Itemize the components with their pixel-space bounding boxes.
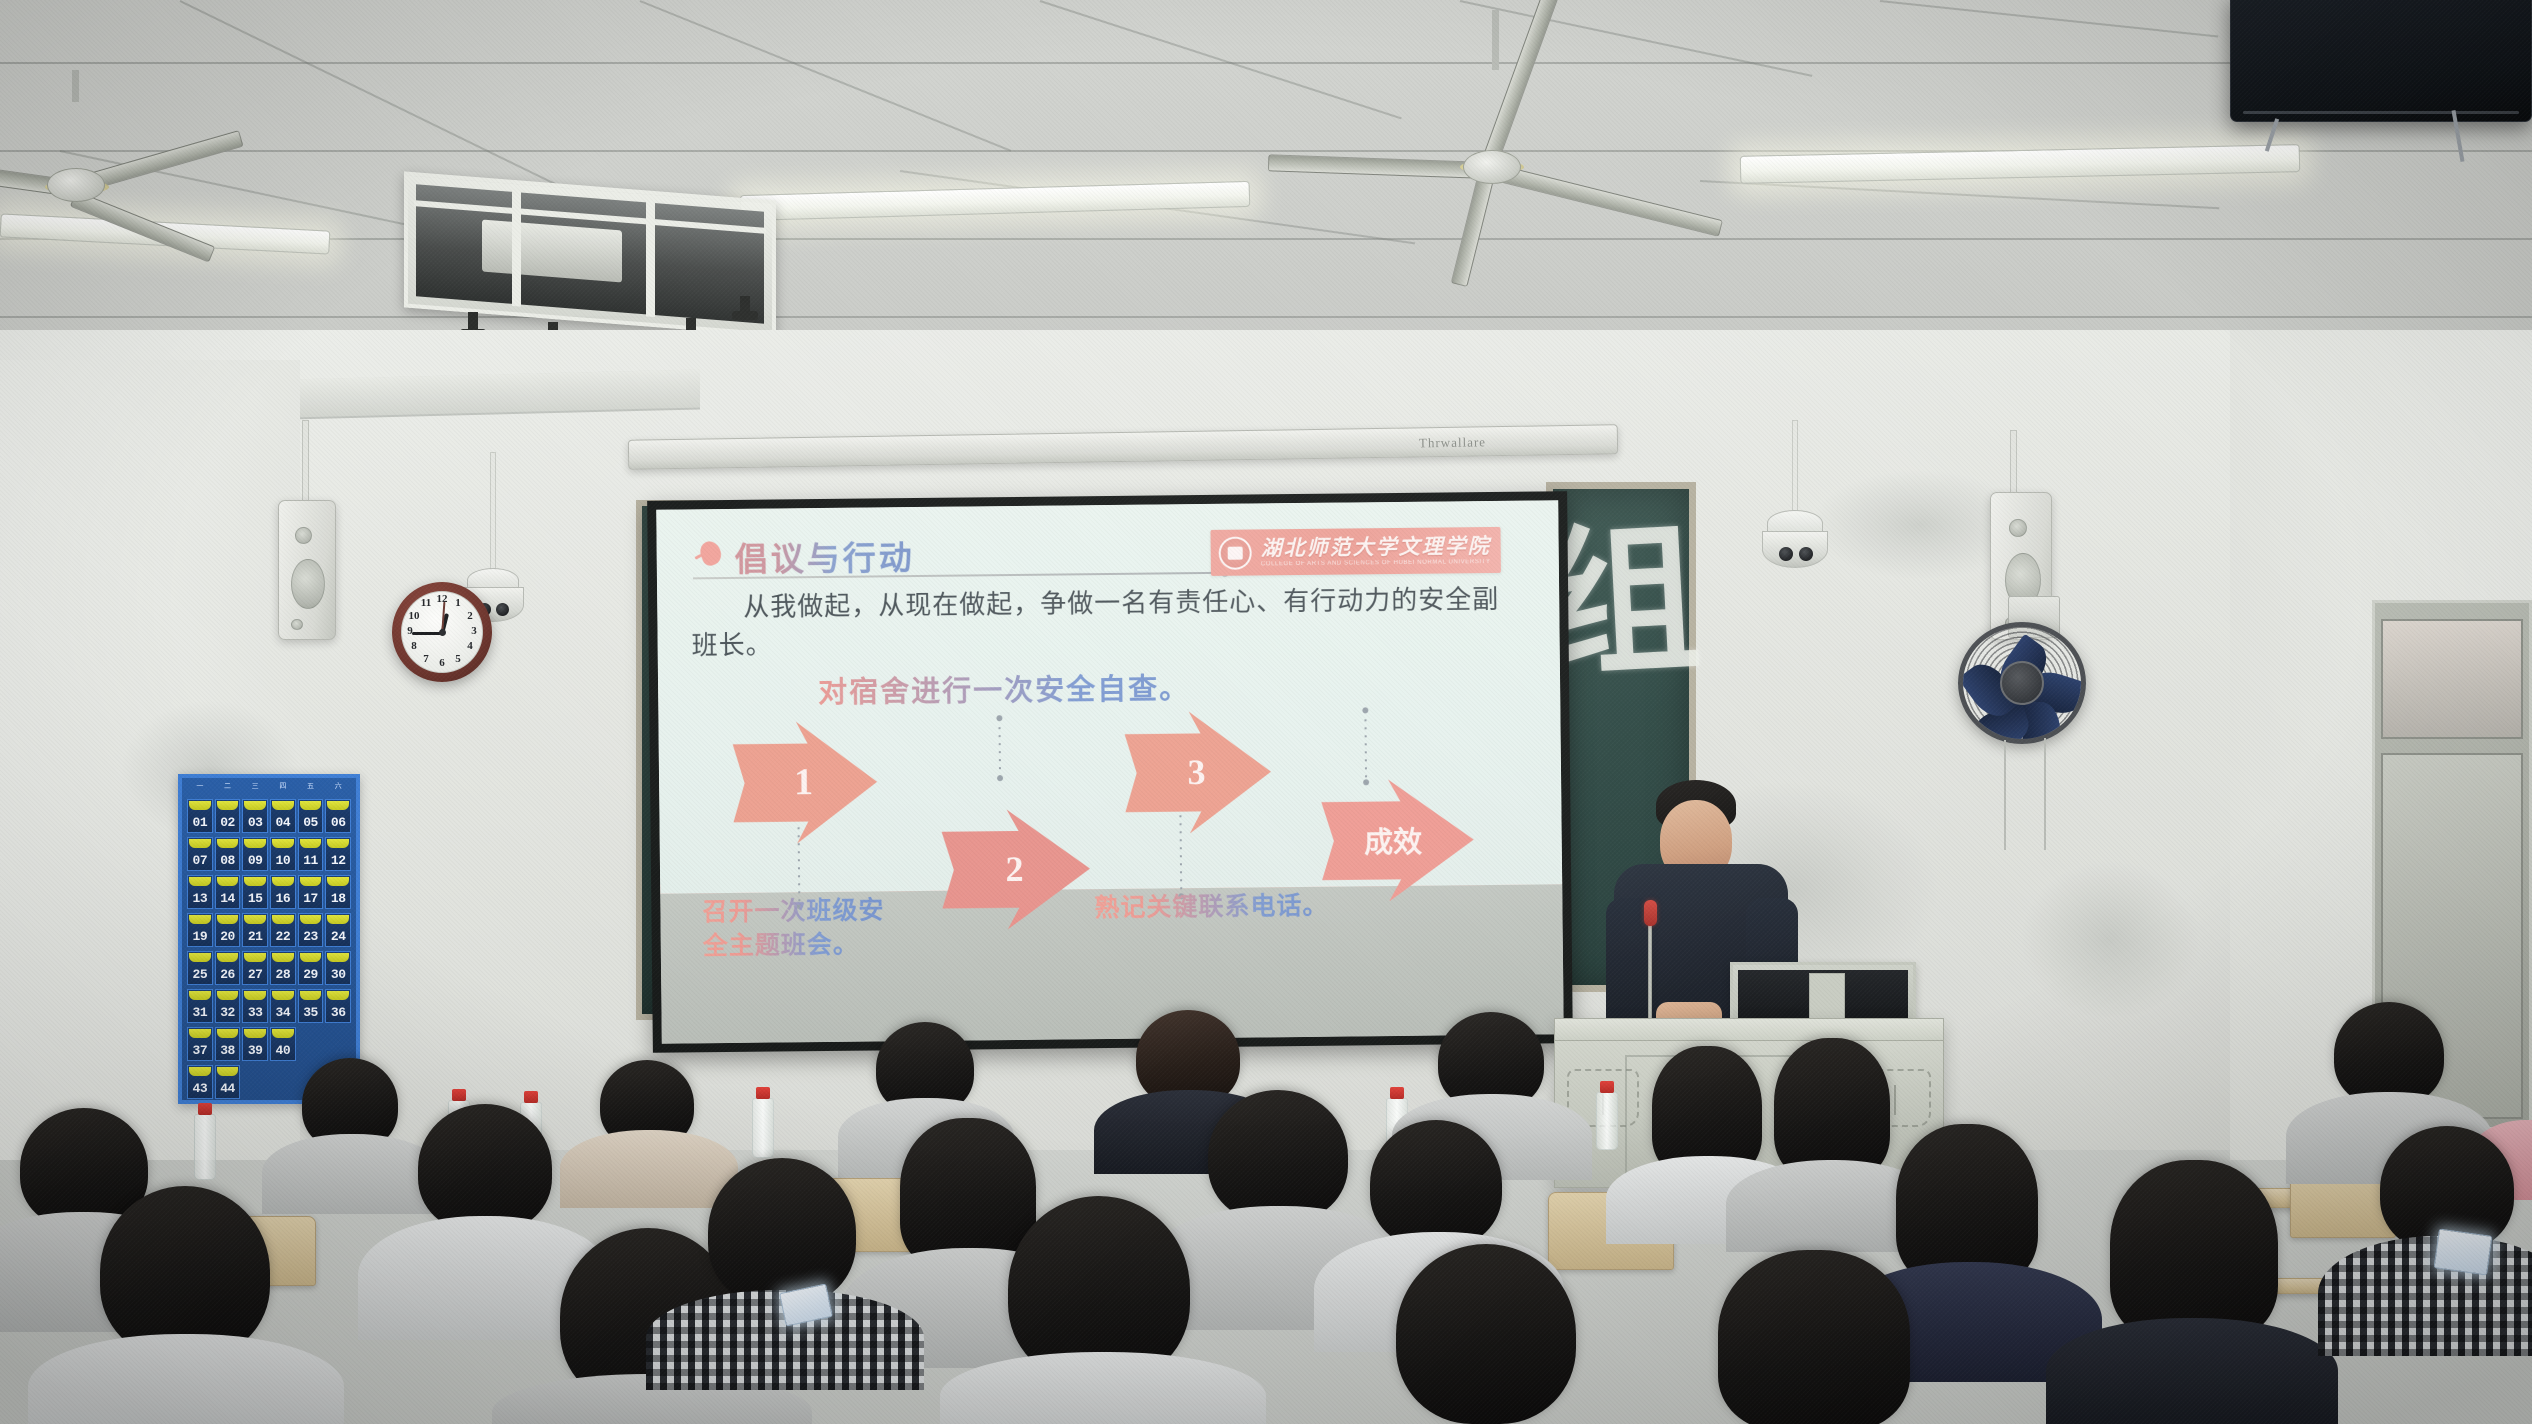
slide-body-text: 从我做起，从现在做起，争做一名有责任心、有行动力的安全副班长。 — [691, 581, 1526, 665]
phone-pocket[interactable]: 17 — [298, 875, 324, 909]
pocket-number: 13 — [193, 892, 208, 908]
process-arrow-3: 3 — [1124, 711, 1271, 835]
pocket-number: 15 — [248, 892, 263, 908]
slide: 倡议与行动 湖北师范大学文理学院 COLLEGE OF ARTS AND SCI… — [656, 500, 1562, 894]
clock-face: 12 1 2 3 4 5 6 7 8 9 10 11 — [401, 591, 483, 673]
projection-screen-surface: 倡议与行动 湖北师范大学文理学院 COLLEGE OF ARTS AND SCI… — [656, 500, 1564, 1043]
pocket-number: 31 — [193, 1006, 208, 1022]
phone-pocket[interactable]: 37 — [187, 1027, 213, 1061]
water-bottle[interactable] — [1596, 1092, 1618, 1150]
phone-pocket[interactable]: 11 — [298, 837, 324, 871]
phone-pocket[interactable]: 07 — [187, 837, 213, 871]
school-seal-icon — [1219, 536, 1252, 569]
speaker-bracket — [2010, 430, 2017, 498]
pocket-chart-row: 37 38 39 40 — [185, 1025, 353, 1063]
phone-pocket[interactable]: 03 — [242, 799, 268, 833]
pocket-number: 12 — [331, 854, 346, 870]
phone-pocket[interactable]: 25 — [187, 951, 213, 985]
phone-pocket[interactable]: 27 — [242, 951, 268, 985]
slide-arrow-row: 1 2 3 成效 召开一次班级安 全主题班会。 熟记关键联系电话。 — [692, 708, 1529, 962]
camera-mount-arm — [490, 452, 496, 574]
clock-numeral: 11 — [418, 597, 434, 609]
arrow-label-3: 熟记关键联系电话。 — [1094, 889, 1394, 926]
pocket-number: 17 — [303, 892, 318, 908]
fan-motor — [1463, 150, 1521, 184]
connector-line — [1179, 800, 1182, 896]
phone-pocket[interactable]: 06 — [325, 799, 351, 833]
microphone-head — [1644, 900, 1657, 926]
pocket-chart-header-cell: 二 — [215, 781, 241, 797]
arrow-marker-outcome: 成效 — [1364, 819, 1422, 862]
wall-stain — [2020, 860, 2200, 1020]
ceiling-fan-right — [1360, 10, 1860, 240]
pocket-number: 14 — [220, 892, 235, 908]
pocket-number: 18 — [331, 892, 346, 908]
phone-pocket[interactable]: 36 — [325, 989, 351, 1023]
student-shoulders — [28, 1334, 344, 1424]
pocket-number: 43 — [193, 1082, 208, 1098]
phone-pocket[interactable]: 23 — [298, 913, 324, 947]
phone-pocket[interactable]: 02 — [215, 799, 241, 833]
pocket-chart-row: 31 32 33 34 35 36 — [185, 987, 353, 1025]
student-head — [2110, 1160, 2278, 1340]
pocket-number: 34 — [276, 1006, 291, 1022]
pocket-number: 01 — [193, 816, 208, 832]
phone-pocket[interactable]: 16 — [270, 875, 296, 909]
student-head — [1370, 1120, 1502, 1248]
phone-pocket[interactable]: 44 — [215, 1065, 241, 1099]
ceiling-fan-left — [35, 70, 235, 190]
fan-blade — [1486, 162, 1723, 237]
clock-numeral: 9 — [402, 625, 418, 637]
phone-pocket[interactable]: 18 — [325, 875, 351, 909]
speaker-woofer — [291, 559, 325, 609]
phone-pocket[interactable]: 15 — [242, 875, 268, 909]
pocket-number: 06 — [331, 816, 346, 832]
phone-pocket[interactable]: 38 — [215, 1027, 241, 1061]
pocket-number: 07 — [193, 854, 208, 870]
process-arrow-outcome: 成效 — [1321, 779, 1474, 903]
fan-pull-cord[interactable] — [2004, 740, 2006, 850]
ceiling-grid-line — [0, 316, 2532, 318]
phone-pocket[interactable]: 32 — [215, 989, 241, 1023]
connector-line — [998, 720, 1001, 778]
phone-pocket[interactable]: 40 — [270, 1027, 296, 1061]
phone-pocket[interactable]: 33 — [242, 989, 268, 1023]
pocket-number: 26 — [220, 968, 235, 984]
clock-minute-hand — [412, 632, 442, 635]
phone-pocket[interactable]: 01 — [187, 799, 213, 833]
fan-cage — [1958, 622, 2086, 744]
clock-numeral: 2 — [462, 610, 478, 622]
pocket-number: 16 — [276, 892, 291, 908]
arrow-marker-2: 2 — [1005, 848, 1023, 890]
pocket-number: 36 — [331, 1006, 346, 1022]
student-head — [1896, 1124, 2038, 1284]
pocket-chart-header-cell: 四 — [270, 781, 296, 797]
pocket-number: 37 — [193, 1044, 208, 1060]
connector-line — [1364, 712, 1367, 782]
clock-center-pin — [439, 629, 446, 636]
phone-pocket[interactable]: 19 — [187, 913, 213, 947]
fan-pull-cord[interactable] — [2044, 738, 2046, 850]
pocket-number: 19 — [193, 930, 208, 946]
pocket-chart-header-cell: 五 — [298, 781, 324, 797]
pocket-number: 27 — [248, 968, 263, 984]
student-head — [418, 1104, 552, 1232]
megaphone-icon — [695, 539, 723, 569]
water-bottle[interactable] — [752, 1098, 774, 1158]
pocket-number: 08 — [220, 854, 235, 870]
phone-pocket[interactable]: 22 — [270, 913, 296, 947]
phone-pocket[interactable]: 13 — [187, 875, 213, 909]
camera-lens — [1779, 547, 1793, 561]
slide-title: 倡议与行动 — [734, 531, 914, 581]
clock-numeral: 8 — [406, 640, 422, 652]
phone-pocket[interactable]: 10 — [270, 837, 296, 871]
wall-clock: 12 1 2 3 4 5 6 7 8 9 10 11 — [392, 582, 492, 682]
arrow-label-1: 召开一次班级安 全主题班会。 — [702, 894, 913, 964]
student-head — [900, 1118, 1036, 1268]
speaker-bracket — [302, 420, 309, 506]
pocket-chart-row: 07 08 09 10 11 12 — [185, 835, 353, 873]
school-name-en: COLLEGE OF ARTS AND SCIENCES OF HUBEI NO… — [1261, 559, 1491, 568]
pocket-number: 44 — [220, 1082, 235, 1098]
projection-screen-frame: 倡议与行动 湖北师范大学文理学院 COLLEGE OF ARTS AND SCI… — [647, 491, 1573, 1053]
camera-dome — [1762, 531, 1828, 568]
speaker-tweeter — [2009, 519, 2027, 537]
clock-numeral: 7 — [418, 653, 434, 665]
speaker-port — [291, 619, 303, 630]
screen-brand-label: Thrwallare — [1419, 434, 1486, 451]
wall-speaker-left — [278, 500, 336, 640]
fan-downrod — [72, 70, 79, 102]
arrow-marker-1: 1 — [794, 760, 813, 804]
fan-hub — [2000, 661, 2044, 705]
process-arrow-2: 2 — [941, 809, 1090, 931]
student-head — [1208, 1090, 1348, 1222]
process-arrow-1: 1 — [732, 721, 877, 845]
pocket-number: 21 — [248, 930, 263, 946]
student-head — [1718, 1250, 1910, 1424]
security-camera-right — [1762, 510, 1828, 568]
pocket-number: 39 — [248, 1044, 263, 1060]
ceiling-tv — [2230, 0, 2532, 122]
fan-downrod — [1492, 10, 1499, 70]
student-head — [1774, 1038, 1890, 1178]
classroom-photo: 组 Thrwallare 倡议与行动 湖北 — [0, 0, 2532, 1424]
phone-pocket[interactable]: 09 — [242, 837, 268, 871]
phone-pocket[interactable]: 26 — [215, 951, 241, 985]
pocket-number: 04 — [276, 816, 291, 832]
phone-pocket[interactable]: 24 — [325, 913, 351, 947]
pocket-number: 23 — [303, 930, 318, 946]
phone-pocket[interactable]: 30 — [325, 951, 351, 985]
pocket-chart-row: 13 14 15 16 17 18 — [185, 873, 353, 911]
pocket-number: 05 — [303, 816, 318, 832]
clock-numeral: 4 — [462, 640, 478, 652]
ceiling-grid-line — [0, 238, 2532, 240]
pocket-number: 24 — [331, 930, 346, 946]
phone-pocket — [270, 1065, 296, 1099]
slide-kicker-text: 对宿舍进行一次安全自查。 — [692, 662, 1526, 713]
pocket-number: 11 — [303, 854, 318, 870]
phone-pocket[interactable]: 05 — [298, 799, 324, 833]
student-head — [100, 1186, 270, 1358]
student-head — [708, 1158, 856, 1306]
door-upper-glass — [2381, 619, 2523, 739]
phone-pocket[interactable]: 21 — [242, 913, 268, 947]
camera-lens — [1799, 547, 1813, 561]
phone-pocket-chart: 一 二 三 四 五 六 01 02 03 04 05 06 07 08 09 1… — [178, 774, 360, 1104]
projector-body — [482, 220, 622, 283]
student-shoulders — [2046, 1318, 2338, 1424]
school-name-cn: 湖北师范大学文理学院 — [1261, 535, 1491, 559]
pocket-chart-header-cell: 六 — [325, 781, 351, 797]
pocket-number: 02 — [220, 816, 235, 832]
pocket-chart-header-cell: 一 — [187, 781, 213, 797]
arrow-marker-3: 3 — [1187, 751, 1205, 793]
podium-top-edge — [1555, 1019, 1943, 1041]
water-bottle[interactable] — [194, 1114, 216, 1180]
pocket-number: 32 — [220, 1006, 235, 1022]
slide-header: 倡议与行动 湖北师范大学文理学院 COLLEGE OF ARTS AND SCI… — [690, 525, 1524, 580]
clock-numeral: 3 — [466, 625, 482, 637]
projector-mount-foot — [740, 296, 750, 320]
phone-pocket — [298, 1027, 324, 1061]
phone-pocket — [242, 1065, 268, 1099]
pocket-chart-row: 25 26 27 28 29 30 — [185, 949, 353, 987]
phone-pocket[interactable]: 31 — [187, 989, 213, 1023]
student-head — [1396, 1244, 1576, 1424]
student-shoulders — [560, 1130, 738, 1208]
phone-pocket[interactable]: 20 — [215, 913, 241, 947]
phone-pocket[interactable]: 35 — [298, 989, 324, 1023]
fan-motor — [47, 168, 105, 202]
pocket-number: 33 — [248, 1006, 263, 1022]
phone-pocket[interactable]: 14 — [215, 875, 241, 909]
pocket-number: 38 — [220, 1044, 235, 1060]
clock-numeral: 12 — [434, 593, 450, 605]
pocket-number: 09 — [248, 854, 263, 870]
pocket-chart-header: 一 二 三 四 五 六 — [185, 781, 353, 797]
student-head — [2334, 1002, 2444, 1106]
camera-mount-arm — [1792, 420, 1798, 516]
phone-pocket[interactable]: 39 — [242, 1027, 268, 1061]
pocket-number: 40 — [276, 1044, 291, 1060]
pocket-number: 10 — [276, 854, 291, 870]
school-logo-banner: 湖北师范大学文理学院 COLLEGE OF ARTS AND SCIENCES … — [1210, 527, 1500, 576]
pocket-number: 20 — [220, 930, 235, 946]
pocket-number: 22 — [276, 930, 291, 946]
pocket-number: 28 — [276, 968, 291, 984]
phone-pocket[interactable]: 04 — [270, 799, 296, 833]
pocket-number: 25 — [193, 968, 208, 984]
pocket-number: 35 — [303, 1006, 318, 1022]
phone-pocket[interactable]: 43 — [187, 1065, 213, 1099]
pocket-number: 30 — [331, 968, 346, 984]
student-phone[interactable] — [2433, 1228, 2492, 1275]
phone-pocket[interactable]: 29 — [298, 951, 324, 985]
phone-pocket[interactable]: 08 — [215, 837, 241, 871]
student-shoulders — [2318, 1236, 2532, 1356]
phone-pocket — [325, 1027, 351, 1061]
pocket-number: 03 — [248, 816, 263, 832]
phone-pocket[interactable]: 12 — [325, 837, 351, 871]
phone-pocket[interactable]: 34 — [270, 989, 296, 1023]
phone-pocket[interactable]: 28 — [270, 951, 296, 985]
clock-numeral: 1 — [450, 597, 466, 609]
clock-numeral: 6 — [434, 657, 450, 669]
pocket-chart-row: 19 20 21 22 23 24 — [185, 911, 353, 949]
pocket-chart-row: 01 02 03 04 05 06 — [185, 797, 353, 835]
tv-status-strip — [2243, 111, 2519, 114]
student-shoulders — [262, 1134, 442, 1214]
connector-line — [797, 812, 800, 906]
wall-mounted-fan — [1958, 596, 2098, 796]
clock-numeral: 10 — [406, 610, 422, 622]
speaker-tweeter — [295, 527, 312, 544]
pocket-chart-header-cell: 三 — [242, 781, 268, 797]
camera-lens — [496, 603, 509, 616]
ceiling-grid-line — [0, 62, 2532, 64]
pocket-number: 29 — [303, 968, 318, 984]
clock-numeral: 5 — [450, 653, 466, 665]
